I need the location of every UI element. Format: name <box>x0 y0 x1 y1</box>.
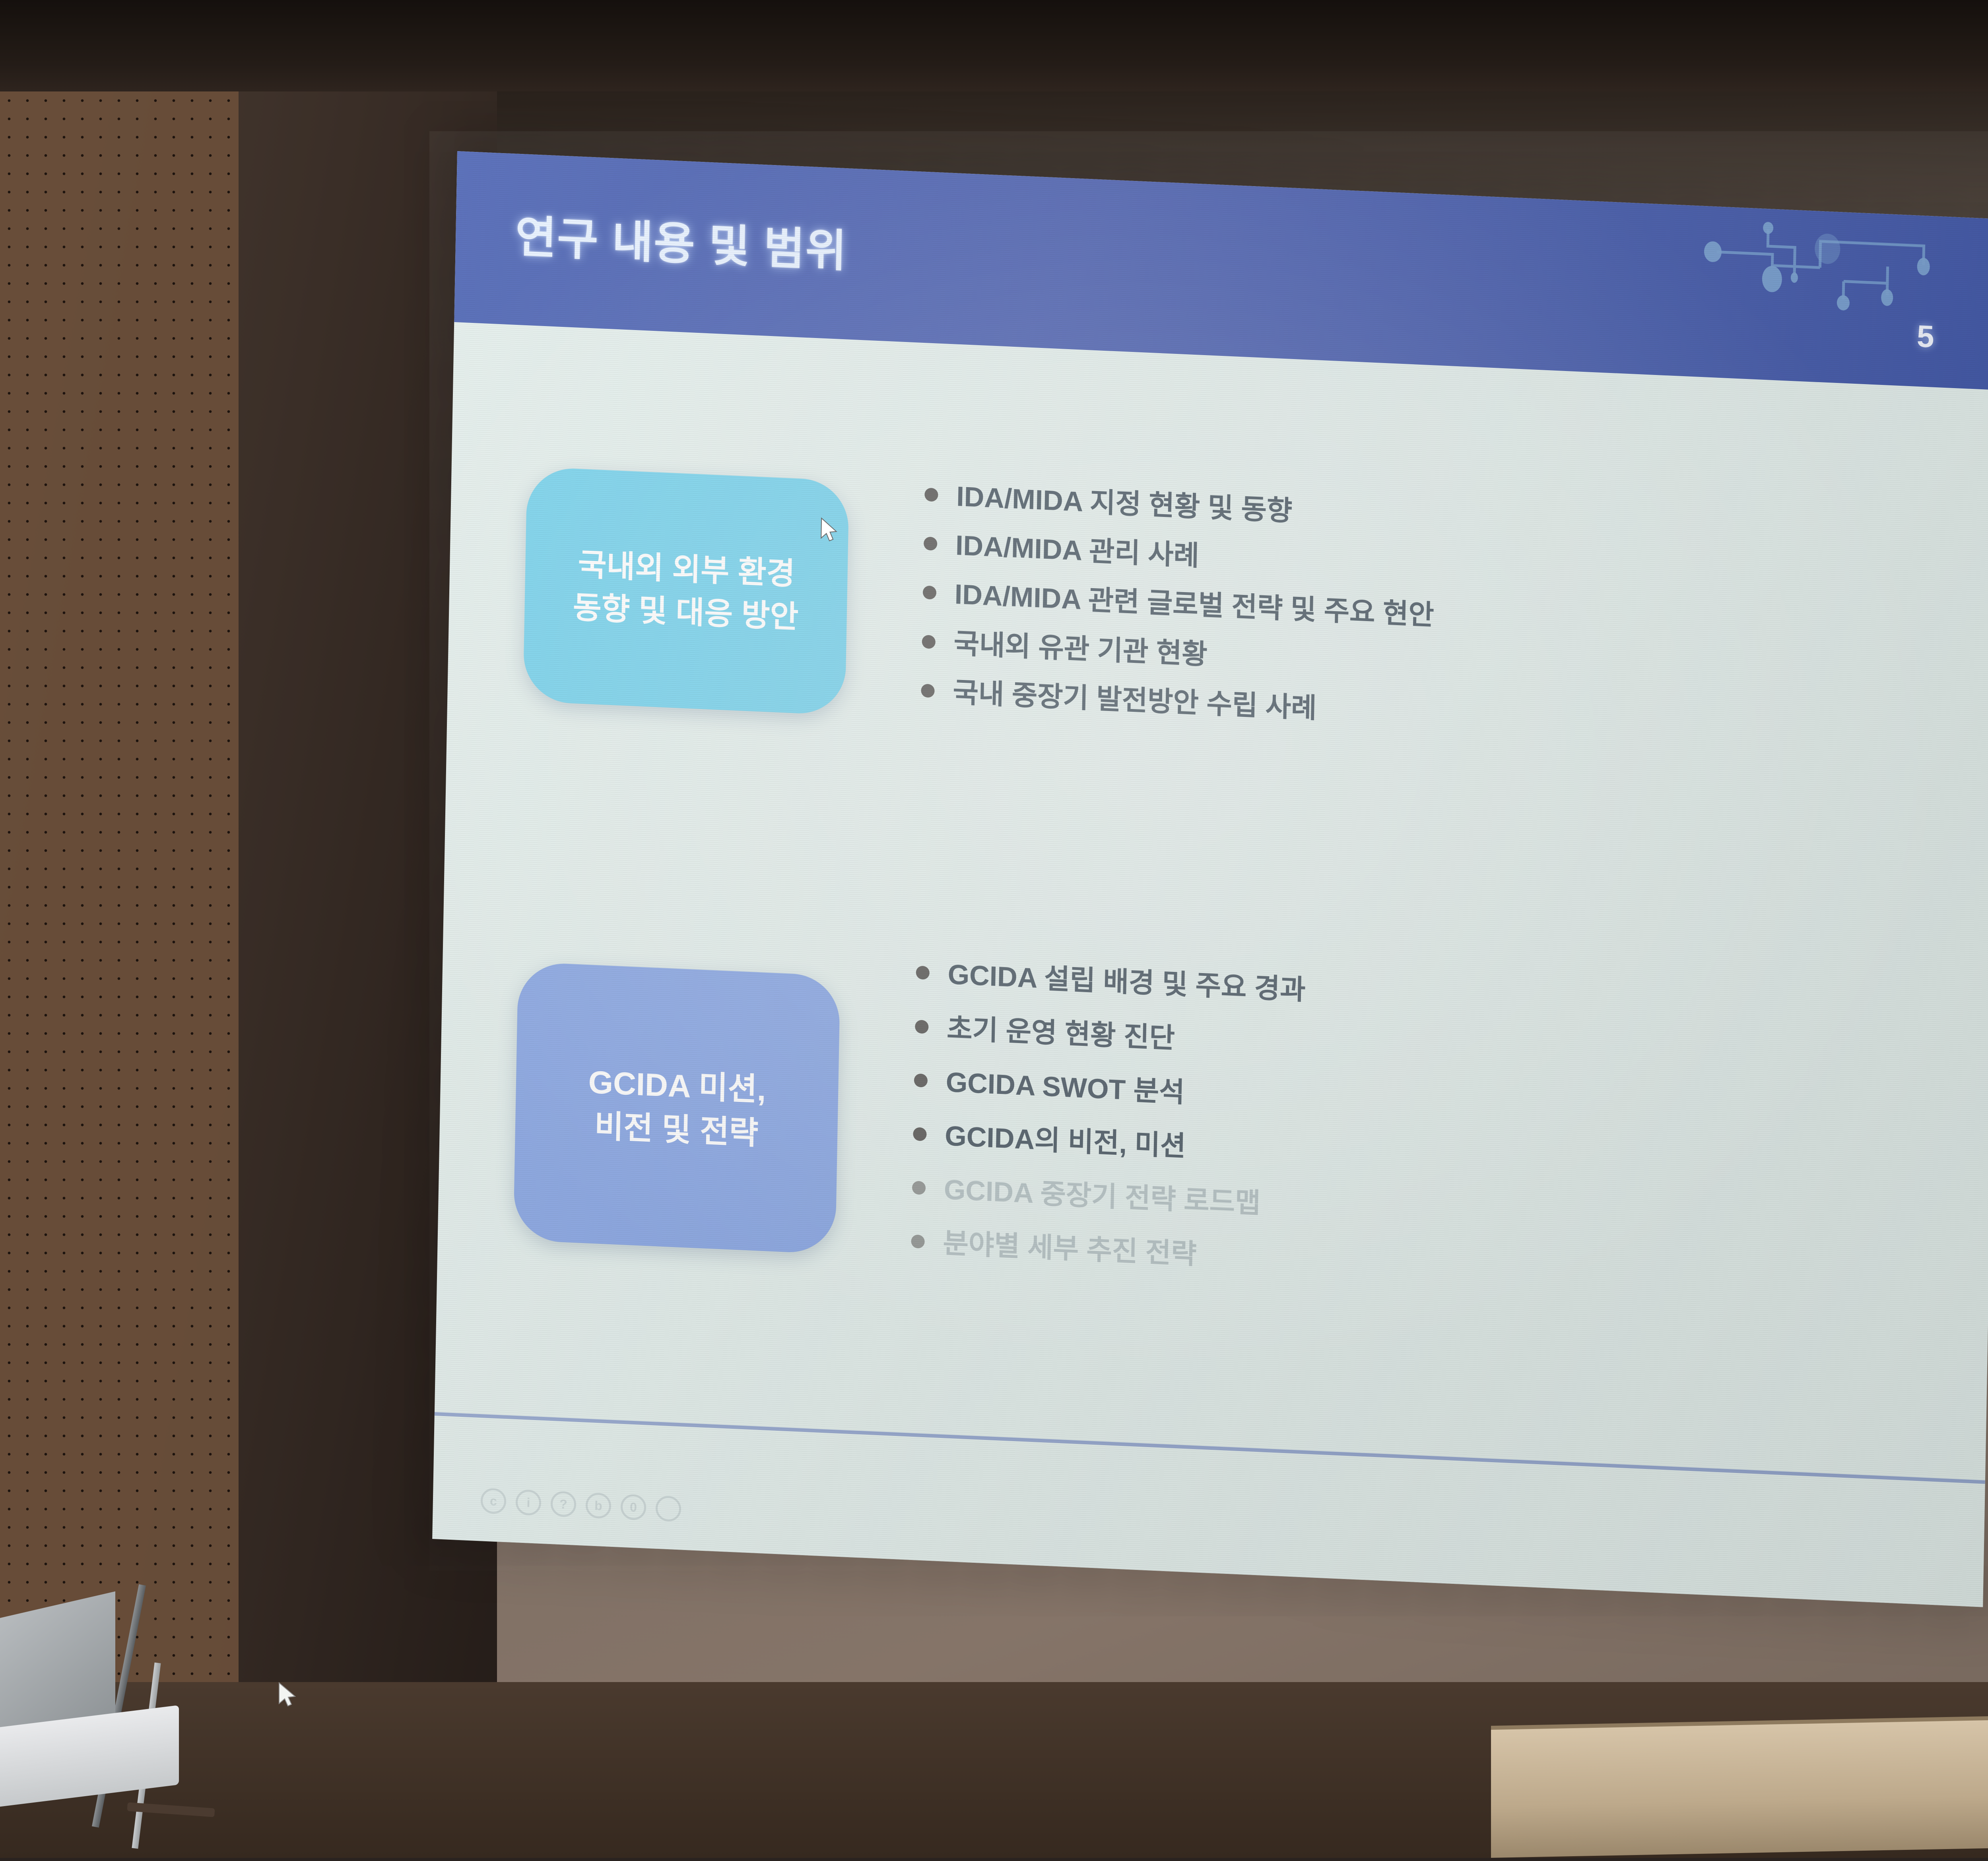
slide-page-number: 5 <box>1916 318 1934 355</box>
circuit-network-decoration <box>1700 216 1956 318</box>
mouse-cursor-on-wall <box>278 1682 297 1708</box>
bullet-dot-icon <box>924 488 938 501</box>
content-group-1: 국내외 외부 환경 동향 및 대응 방안 IDA/MIDA 지정 현황 및 동향… <box>446 370 1988 860</box>
ceiling-band <box>0 0 1988 91</box>
sa-icon: 0 <box>620 1494 646 1521</box>
bullet-dot-icon <box>916 966 930 980</box>
pill-1-label: 국내외 외부 환경 동향 및 대응 방안 <box>573 543 800 639</box>
pill-2-label: GCIDA 미션, 비전 및 전략 <box>587 1060 766 1156</box>
laptop-and-monitor-arm <box>0 1607 239 1861</box>
projected-slide[interactable]: 연구 내용 및 범위 5 <box>432 151 1988 1607</box>
bullet-text: GCIDA SWOT 분석 <box>945 1066 1185 1109</box>
bullet-list-1: IDA/MIDA 지정 현황 및 동향 IDA/MIDA 관리 사례 IDA/M… <box>845 476 1988 771</box>
nd-icon: b <box>585 1492 611 1519</box>
bullet-dot-icon <box>921 684 935 697</box>
bullet-text: 국내외 유관 기관 현황 <box>953 627 1208 670</box>
cc-icon: c <box>480 1488 506 1514</box>
perforated-acoustic-panel-left <box>0 0 239 1858</box>
category-pill-gcida-mission[interactable]: GCIDA 미션, 비전 및 전략 <box>513 962 841 1254</box>
mouse-cursor-on-slide <box>820 517 838 543</box>
slide-title: 연구 내용 및 범위 <box>515 201 848 280</box>
bullet-text: GCIDA의 비전, 미션 <box>945 1120 1186 1163</box>
bullet-dot-icon <box>913 1127 927 1141</box>
bullet-dot-icon <box>911 1235 925 1249</box>
bullet-text: GCIDA 설립 배경 및 주요 경과 <box>947 958 1306 1006</box>
bullet-dot-icon <box>914 1073 928 1087</box>
slide-content-area: 국내외 외부 환경 동향 및 대응 방안 IDA/MIDA 지정 현황 및 동향… <box>432 322 1988 1607</box>
by-icon: i <box>515 1489 541 1516</box>
category-pill-external-environment[interactable]: 국내외 외부 환경 동향 및 대응 방안 <box>523 466 849 715</box>
bullet-text: IDA/MIDA 관련 글로벌 전략 및 주요 현안 <box>954 578 1434 631</box>
bullet-dot-icon <box>924 537 938 551</box>
bullet-text: GCIDA 중장기 전략 로드맵 <box>944 1173 1261 1220</box>
bullet-dot-icon <box>915 1020 929 1033</box>
content-group-2: GCIDA 미션, 비전 및 전략 GCIDA 설립 배경 및 주요 경과 초기… <box>436 847 1988 1416</box>
bullet-list-2: GCIDA 설립 배경 및 주요 경과 초기 운영 현황 진단 GCIDA SW… <box>835 954 1988 1327</box>
bullet-text: 국내 중장기 발전방안 수립 사례 <box>953 676 1317 725</box>
conference-room-scene: 연구 내용 및 범위 5 <box>0 0 1988 1858</box>
bullet-dot-icon <box>922 635 936 649</box>
bullet-text: IDA/MIDA 지정 현황 및 동향 <box>956 480 1293 527</box>
nc-icon: ? <box>550 1491 576 1517</box>
bullet-text: 분야별 세부 추진 전략 <box>943 1227 1197 1270</box>
bullet-text: IDA/MIDA 관리 사례 <box>955 529 1199 572</box>
zero-icon <box>655 1496 681 1522</box>
bullet-dot-icon <box>923 586 937 600</box>
bullet-text: 초기 운영 현황 진단 <box>947 1012 1175 1055</box>
bullet-dot-icon <box>912 1181 926 1195</box>
